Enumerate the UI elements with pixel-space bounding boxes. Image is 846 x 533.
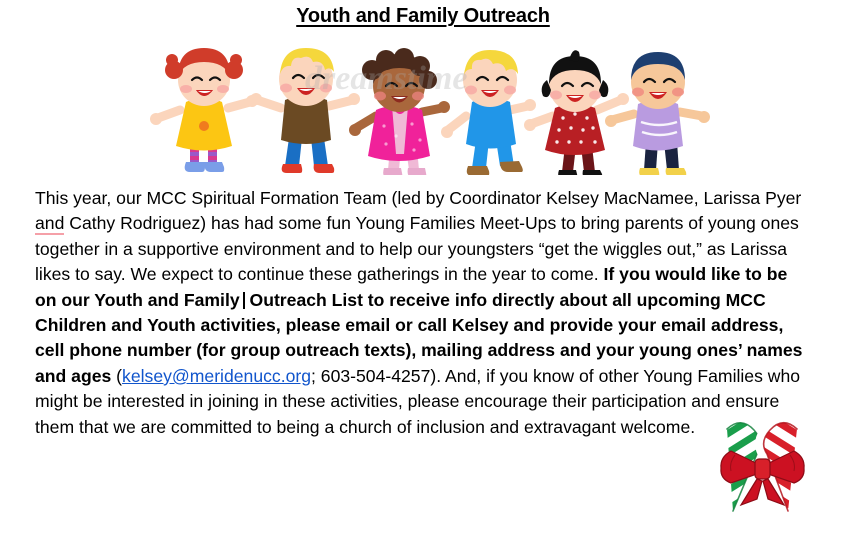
child-boy-blond-brown-shirt [250, 48, 360, 173]
document-page: Youth and Family Outreach [0, 0, 846, 533]
body-segment-1: This year, our MCC Spiritual Formation T… [35, 188, 801, 208]
candy-canes-clipart [697, 415, 827, 525]
children-clipart [150, 40, 710, 175]
page-title: Youth and Family Outreach [0, 5, 846, 28]
page-title-text: Youth and Family Outreach [296, 5, 550, 27]
child-girl-red-polka-dot-dress [524, 50, 629, 175]
body-open-paren: ( [111, 366, 122, 386]
child-girl-red-pigtails [150, 48, 258, 172]
child-boy-blue-overalls [441, 50, 536, 175]
article-body: This year, our MCC Spiritual Formation T… [35, 186, 810, 440]
article-paragraph: This year, our MCC Spiritual Formation T… [35, 186, 810, 440]
child-girl-dark-curls-pink-coat [349, 48, 450, 175]
child-boy-lavender-shirt [605, 52, 710, 175]
text-cursor-caret [243, 292, 245, 309]
spellcheck-flagged-word: and [35, 213, 64, 235]
email-link[interactable]: kelsey@meridenucc.org [122, 366, 311, 386]
